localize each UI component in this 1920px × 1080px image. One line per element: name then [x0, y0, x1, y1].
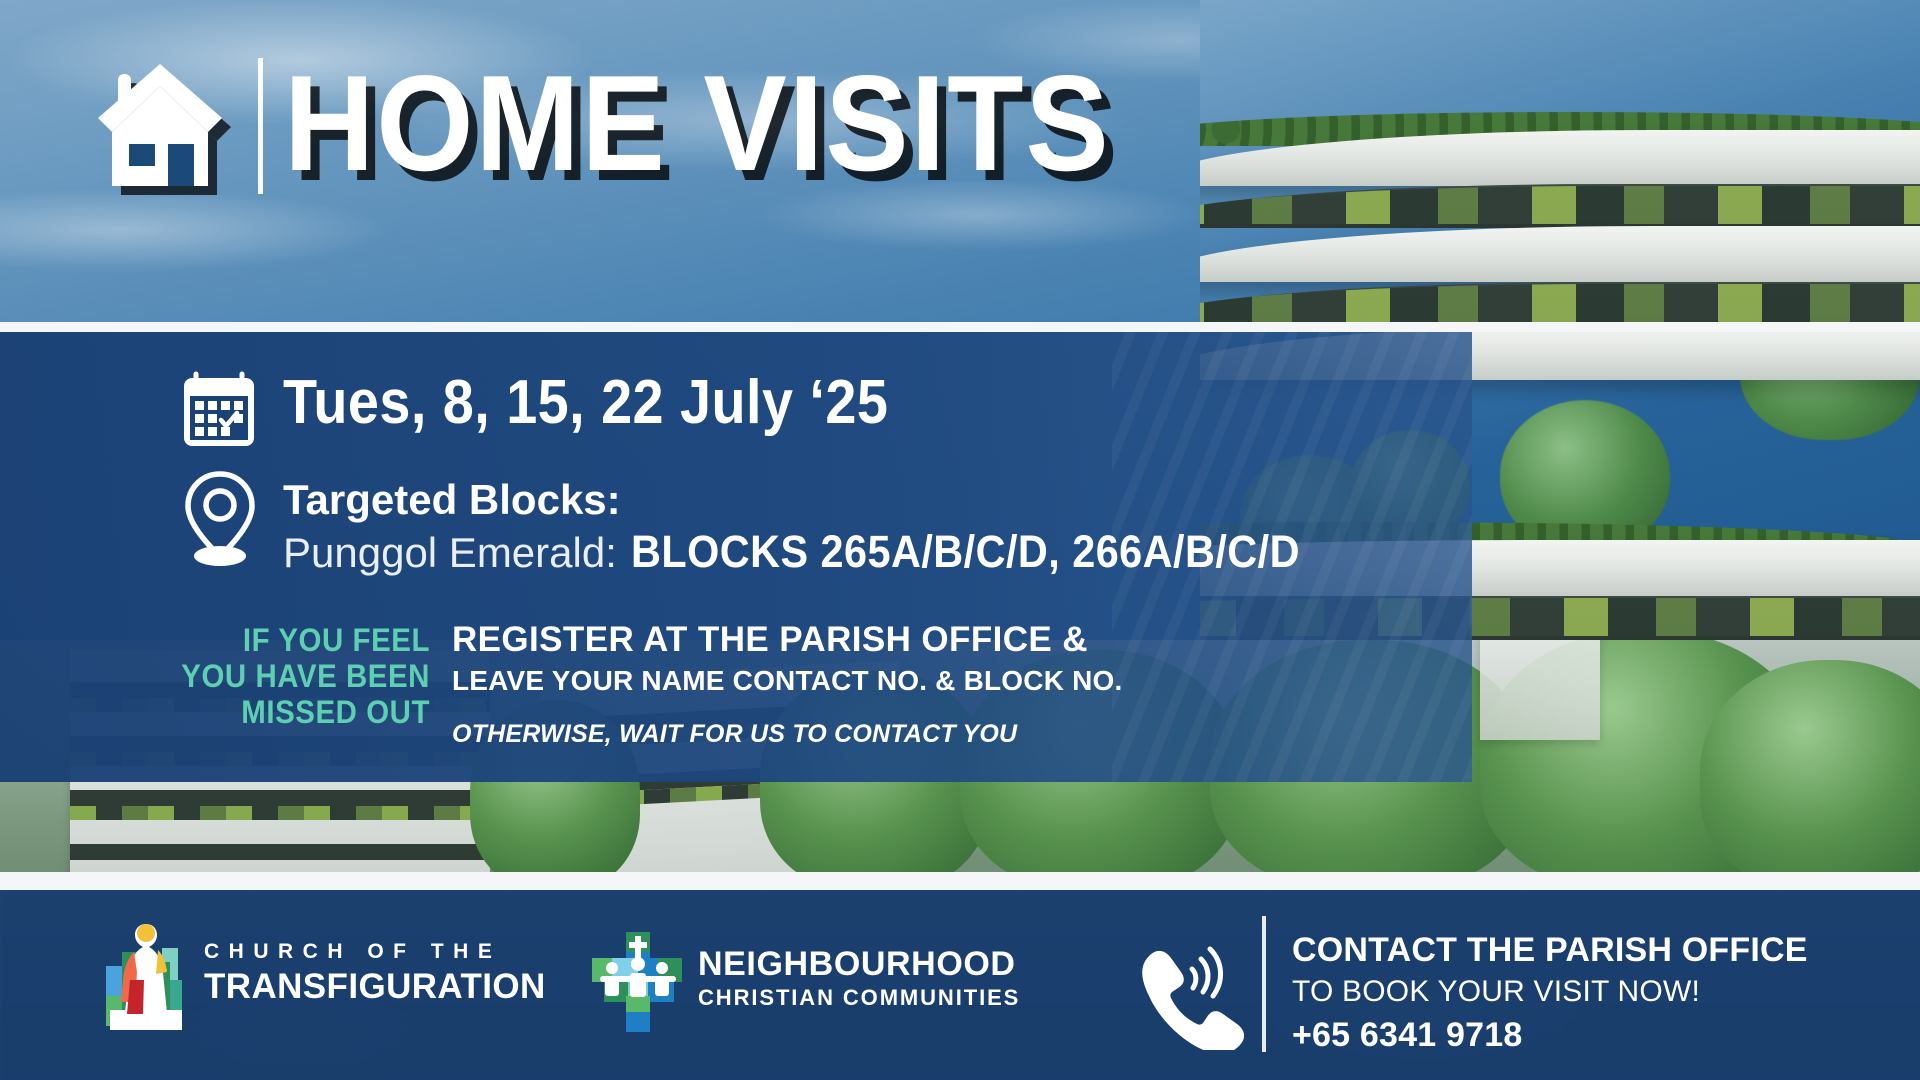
page-title: HOME VISITS — [284, 48, 1111, 198]
missed-out-note: IF YOU FEEL YOU HAVE BEEN MISSED OUT — [34, 622, 430, 730]
targeted-blocks-label: Targeted Blocks: — [283, 474, 621, 526]
poster-canvas: HOME VISITS Tues, 8, 15, 22 July ‘25 Tar… — [0, 0, 1920, 1080]
church-logo-line-2: TRANSFIGURATION — [204, 966, 546, 1008]
missed-line-1: IF YOU FEEL — [34, 622, 430, 658]
neighbourhood-christian-communities-logo — [590, 930, 686, 1034]
register-line-2: LEAVE YOUR NAME CONTACT NO. & BLOCK NO. — [452, 662, 1122, 700]
register-instructions: REGISTER AT THE PARISH OFFICE & LEAVE YO… — [452, 618, 1122, 754]
church-logo-text: CHURCH OF THE TRANSFIGURATION — [204, 938, 546, 1008]
missed-line-3: MISSED OUT — [34, 694, 430, 730]
title-divider — [258, 58, 263, 194]
contact-line-1: CONTACT THE PARISH OFFICE — [1292, 928, 1808, 972]
church-transfiguration-logo — [104, 918, 188, 1034]
phone-ringing-icon — [1135, 944, 1245, 1050]
divider-bottom — [0, 872, 1920, 890]
contact-phone-number[interactable]: +65 6341 9718 — [1292, 1012, 1808, 1058]
church-logo-line-1: CHURCH OF THE — [204, 938, 546, 966]
house-icon — [96, 56, 224, 188]
map-pin-icon — [182, 470, 258, 568]
visit-dates: Tues, 8, 15, 22 July ‘25 — [283, 362, 888, 444]
estate-name: Punggol Emerald: — [283, 525, 617, 581]
block-list: BLOCKS 265A/B/C/D, 266A/B/C/D — [631, 524, 1300, 580]
register-line-3: OTHERWISE, WAIT FOR US TO CONTACT YOU — [452, 714, 1122, 754]
register-line-1: REGISTER AT THE PARISH OFFICE & — [452, 618, 1122, 662]
ncc-logo-line-1: NEIGHBOURHOOD — [698, 944, 1020, 984]
targeted-blocks-value: Punggol Emerald: BLOCKS 265A/B/C/D, 266A… — [283, 524, 1358, 581]
contact-info: CONTACT THE PARISH OFFICE TO BOOK YOUR V… — [1292, 928, 1808, 1058]
ncc-logo-line-2: CHRISTIAN COMMUNITIES — [698, 984, 1020, 1012]
ncc-logo-text: NEIGHBOURHOOD CHRISTIAN COMMUNITIES — [698, 944, 1020, 1012]
poster-header: HOME VISITS — [0, 0, 1200, 330]
contact-divider — [1262, 916, 1266, 1052]
calendar-icon — [180, 368, 258, 450]
missed-line-2: YOU HAVE BEEN — [34, 658, 430, 694]
contact-line-2: TO BOOK YOUR VISIT NOW! — [1292, 972, 1808, 1012]
